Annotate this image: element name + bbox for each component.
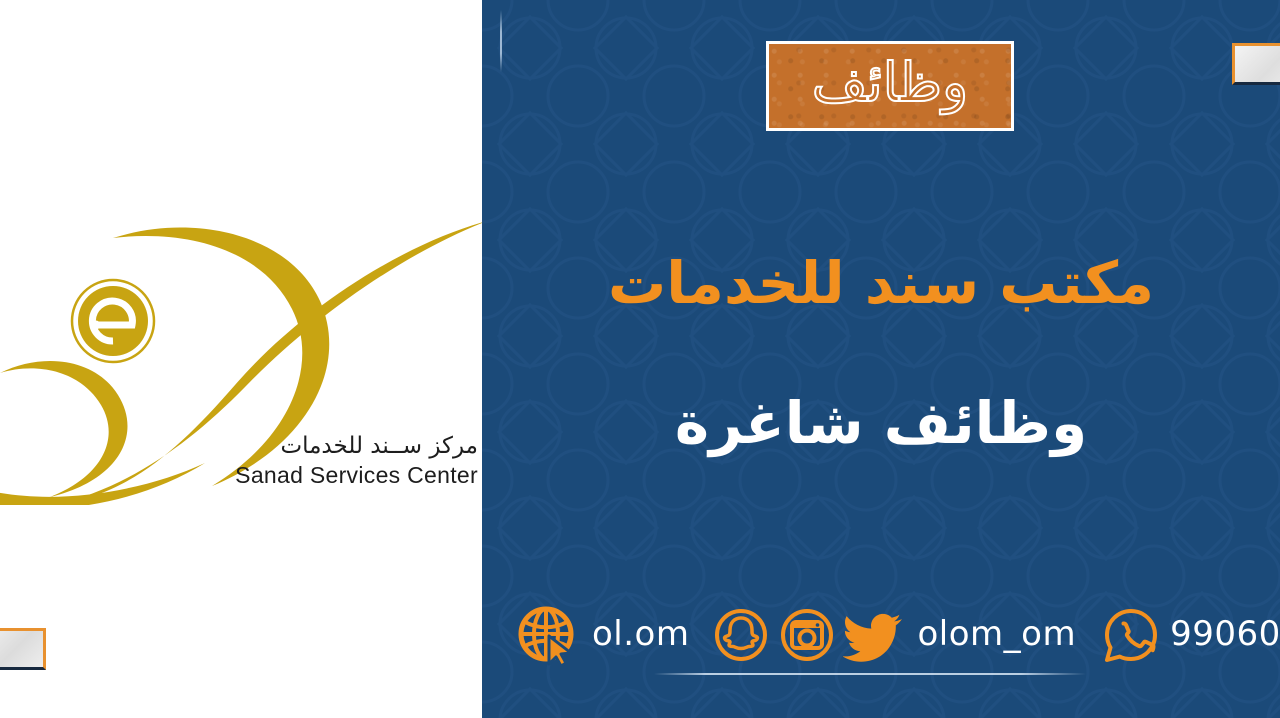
- twitter-icon: [843, 607, 903, 663]
- decorative-card-bottom-left: [0, 628, 46, 670]
- decorative-card-top-right: [1232, 43, 1280, 85]
- whatsapp-icon: [1102, 606, 1160, 664]
- contact-instagram[interactable]: [779, 607, 835, 663]
- page-subtitle: وظائف شاغرة: [482, 390, 1280, 457]
- contact-snapchat[interactable]: [713, 607, 769, 663]
- website-label: ol.om: [592, 617, 689, 654]
- footer-vertical-divider: [500, 10, 502, 72]
- brand-name-arabic: مركز ســند للخدمات: [0, 432, 480, 461]
- vacancies-badge: وظائف: [766, 41, 1014, 131]
- poster-canvas: مركز ســند للخدمات Sanad Services Center: [0, 0, 1280, 718]
- brand-name-english: Sanad Services Center: [0, 461, 480, 491]
- page-title: مكتب سند للخدمات: [482, 250, 1280, 317]
- contact-whatsapp[interactable]: 99060010: [1102, 606, 1280, 664]
- brand-lockup: مركز ســند للخدمات Sanad Services Center: [0, 432, 480, 491]
- brand-panel: مركز ســند للخدمات Sanad Services Center: [0, 0, 482, 718]
- contact-twitter[interactable]: olom_om: [843, 607, 1076, 663]
- globe-cursor-icon: [516, 604, 578, 666]
- instagram-icon: [779, 607, 835, 663]
- twitter-handle: olom_om: [917, 617, 1076, 654]
- contact-bar: ol.om: [482, 596, 1280, 674]
- snapchat-icon: [713, 607, 769, 663]
- logo-e-emblem: [72, 280, 154, 362]
- content-panel: وظائف مكتب سند للخدمات وظائف شاغرة o: [482, 0, 1280, 718]
- vacancies-badge-label: وظائف: [812, 56, 968, 116]
- contact-website[interactable]: ol.om: [516, 604, 689, 666]
- whatsapp-number: 99060010: [1170, 617, 1280, 654]
